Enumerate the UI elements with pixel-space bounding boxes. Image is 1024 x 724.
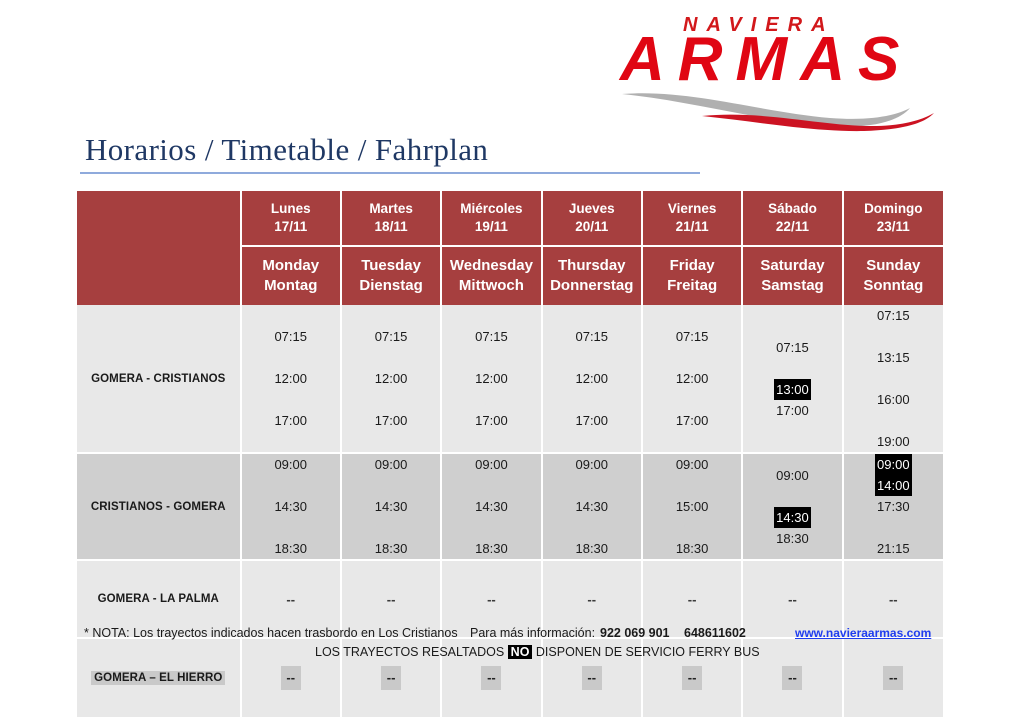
header-day-name-es: Miércoles — [442, 200, 540, 218]
schedule-cell: 07:1512:0017:00 — [241, 305, 341, 453]
header-day-date: 20/11 — [543, 218, 641, 236]
time-list: -- — [788, 589, 797, 610]
time-entry: 09:00 — [676, 454, 709, 475]
footer: * NOTA: Los trayectos indicados hacen tr… — [0, 626, 1024, 672]
time-entry: 18:30 — [274, 538, 307, 559]
schedule-cell: 09:0014:3018:30 — [241, 453, 341, 560]
header-day-en-de-1: MondayMontag — [241, 246, 341, 305]
time-entry: 21:15 — [875, 538, 912, 559]
time-list: 07:1513:0017:00 — [774, 337, 811, 421]
header-day-en-de-2: TuesdayDienstag — [341, 246, 441, 305]
time-list: 07:1512:0017:00 — [475, 326, 508, 431]
header-day-name-es: Lunes — [242, 200, 340, 218]
time-entry: 17:00 — [575, 410, 608, 431]
time-entry: 07:15 — [877, 305, 910, 326]
header-day-es-3: Miércoles19/11 — [441, 191, 541, 246]
time-entry: 19:00 — [877, 431, 910, 452]
time-entry: 17:00 — [475, 410, 508, 431]
time-list: 07:1512:0017:00 — [676, 326, 709, 431]
time-entry: 18:30 — [774, 528, 811, 549]
header-day-name-es: Domingo — [844, 200, 943, 218]
schedule-cell: 09:0015:0018:30 — [642, 453, 742, 560]
header-day-en-de-3: WednesdayMittwoch — [441, 246, 541, 305]
header-corner-cell — [77, 191, 241, 305]
time-entry: 07:15 — [676, 326, 709, 347]
footer-website-link[interactable]: www.navieraarmas.com — [795, 626, 931, 640]
schedule-cell: 09:0014:3018:30 — [542, 453, 642, 560]
time-entry: 09:00 — [774, 465, 811, 486]
time-entry: 18:30 — [475, 538, 508, 559]
time-entry: 14:30 — [475, 496, 508, 517]
header-row-spanish: Lunes17/11Martes18/11Miércoles19/11Jueve… — [77, 191, 943, 246]
brand-armas-text: ARMAS — [620, 28, 912, 92]
header-day-es-2: Martes18/11 — [341, 191, 441, 246]
footer-phone-1[interactable]: 922 069 901 — [600, 626, 670, 640]
time-entry: 16:00 — [877, 389, 910, 410]
time-entry-highlighted: 14:30 — [774, 507, 811, 528]
header-day-name-es: Viernes — [643, 200, 741, 218]
timetable-header: Lunes17/11Martes18/11Miércoles19/11Jueve… — [77, 191, 943, 305]
header-day-en-de-5: FridayFreitag — [642, 246, 742, 305]
time-entry: 18:30 — [375, 538, 408, 559]
footer-ferry-bus-after: DISPONEN DE SERVICIO FERRY BUS — [536, 645, 760, 659]
header-day-name-en: Thursday — [543, 256, 641, 276]
time-entry: 12:00 — [274, 368, 307, 389]
time-entry: 07:15 — [274, 326, 307, 347]
schedule-cell: 07:1512:0017:00 — [542, 305, 642, 453]
time-list: -- — [587, 589, 596, 610]
time-entry-highlighted: 09:00 — [875, 454, 912, 475]
no-service-dash: -- — [889, 592, 898, 607]
time-entry: 15:00 — [676, 496, 709, 517]
schedule-cell: 09:0014:3018:30 — [341, 453, 441, 560]
footer-phone-2[interactable]: 648611602 — [684, 626, 746, 640]
time-list: 09:0014:0017:3021:15 — [875, 454, 912, 559]
time-list: -- — [487, 589, 496, 610]
header-day-name-en: Sunday — [844, 256, 943, 276]
schedule-cell: 07:1512:0017:00 — [441, 305, 541, 453]
header-day-name-en: Friday — [643, 256, 741, 276]
time-entry: 14:30 — [274, 496, 307, 517]
schedule-cell: 09:0014:3018:30 — [742, 453, 842, 560]
footer-info-label: Para más información: — [470, 626, 595, 640]
time-entry: 17:00 — [774, 400, 811, 421]
time-list: 09:0015:0018:30 — [676, 454, 709, 559]
brand-swoosh-icon — [620, 88, 950, 134]
time-entry: 07:15 — [774, 337, 811, 358]
header-day-name-de: Donnerstag — [543, 276, 641, 296]
time-list: -- — [889, 589, 898, 610]
time-entry: 17:00 — [375, 410, 408, 431]
header-day-en-de-7: SundaySonntag — [843, 246, 943, 305]
header-day-name-en: Monday — [242, 256, 340, 276]
route-label: CRISTIANOS - GOMERA — [91, 501, 226, 513]
time-entry-highlighted: 13:00 — [774, 379, 811, 400]
time-list: 07:1512:0017:00 — [274, 326, 307, 431]
brand-logo: NAVIERA ARMAS — [620, 14, 960, 130]
header-day-name-es: Martes — [342, 200, 440, 218]
header-day-date: 21/11 — [643, 218, 741, 236]
header-day-date: 22/11 — [743, 218, 841, 236]
time-entry: 09:00 — [274, 454, 307, 475]
time-entry: 18:30 — [575, 538, 608, 559]
time-entry: 07:15 — [475, 326, 508, 347]
time-entry: 07:15 — [575, 326, 608, 347]
header-day-en-de-6: SaturdaySamstag — [742, 246, 842, 305]
time-entry: 12:00 — [575, 368, 608, 389]
schedule-cell: 07:1512:0017:00 — [341, 305, 441, 453]
schedule-cell: 09:0014:3018:30 — [441, 453, 541, 560]
time-entry: 14:30 — [375, 496, 408, 517]
no-service-dash: -- — [587, 592, 596, 607]
time-entry: 13:15 — [877, 347, 910, 368]
time-entry: 09:00 — [475, 454, 508, 475]
time-entry: 14:30 — [575, 496, 608, 517]
time-entry: 12:00 — [375, 368, 408, 389]
table-row: CRISTIANOS - GOMERA09:0014:3018:3009:001… — [77, 453, 943, 560]
header-day-name-de: Montag — [242, 276, 340, 296]
no-service-dash: -- — [286, 592, 295, 607]
route-label-cell: GOMERA - CRISTIANOS — [77, 305, 241, 453]
route-label: GOMERA - LA PALMA — [98, 593, 219, 605]
no-service-dash: -- — [788, 592, 797, 607]
header-day-name-de: Sonntag — [844, 276, 943, 296]
time-list: 09:0014:3018:30 — [774, 465, 811, 549]
header-day-name-en: Wednesday — [442, 256, 540, 276]
time-entry-highlighted: 14:00 — [875, 475, 912, 496]
time-list: 07:1512:0017:00 — [575, 326, 608, 431]
header-day-name-es: Jueves — [543, 200, 641, 218]
time-list: 09:0014:3018:30 — [575, 454, 608, 559]
header-day-name-en: Saturday — [743, 256, 841, 276]
header-day-name-en: Tuesday — [342, 256, 440, 276]
header-day-date: 18/11 — [342, 218, 440, 236]
table-row: GOMERA - CRISTIANOS07:1512:0017:0007:151… — [77, 305, 943, 453]
footer-note: * NOTA: Los trayectos indicados hacen tr… — [84, 626, 458, 640]
schedule-cell: 07:1512:0017:00 — [642, 305, 742, 453]
route-label: GOMERA – EL HIERRO — [91, 671, 225, 685]
no-service-dash: -- — [688, 592, 697, 607]
header-day-es-6: Sábado22/11 — [742, 191, 842, 246]
time-list: 09:0014:3018:30 — [475, 454, 508, 559]
header-day-name-de: Samstag — [743, 276, 841, 296]
schedule-cell: 09:0014:0017:3021:15 — [843, 453, 943, 560]
time-entry: 17:00 — [676, 410, 709, 431]
time-entry: 09:00 — [375, 454, 408, 475]
header-day-en-de-4: ThursdayDonnerstag — [542, 246, 642, 305]
time-entry: 07:15 — [375, 326, 408, 347]
no-service-dash: -- — [487, 592, 496, 607]
route-label-cell: CRISTIANOS - GOMERA — [77, 453, 241, 560]
schedule-cell: 07:1513:1516:0019:00 — [843, 305, 943, 453]
header-day-es-4: Jueves20/11 — [542, 191, 642, 246]
footer-ferry-bus-before: LOS TRAYECTOS RESALTADOS — [315, 645, 504, 659]
time-entry: 17:00 — [274, 410, 307, 431]
time-list: 07:1513:1516:0019:00 — [877, 305, 910, 452]
schedule-cell: 07:1513:0017:00 — [742, 305, 842, 453]
header-day-name-de: Dienstag — [342, 276, 440, 296]
time-entry: 12:00 — [676, 368, 709, 389]
time-entry: 12:00 — [475, 368, 508, 389]
time-list: 09:0014:3018:30 — [375, 454, 408, 559]
footer-ferry-bus-note: LOS TRAYECTOS RESALTADOS NO DISPONEN DE … — [315, 645, 760, 659]
header-day-es-1: Lunes17/11 — [241, 191, 341, 246]
header-day-es-7: Domingo23/11 — [843, 191, 943, 246]
header-day-name-es: Sábado — [743, 200, 841, 218]
no-service-dash: -- — [387, 592, 396, 607]
time-list: -- — [286, 589, 295, 610]
time-list: 09:0014:3018:30 — [274, 454, 307, 559]
footer-no-badge: NO — [508, 645, 533, 659]
time-list: 07:1512:0017:00 — [375, 326, 408, 431]
header-day-date: 19/11 — [442, 218, 540, 236]
header-day-date: 17/11 — [242, 218, 340, 236]
header-day-es-5: Viernes21/11 — [642, 191, 742, 246]
header-day-name-de: Freitag — [643, 276, 741, 296]
header-day-date: 23/11 — [844, 218, 943, 236]
time-entry: 17:30 — [875, 496, 912, 517]
time-list: -- — [387, 589, 396, 610]
time-list: -- — [688, 589, 697, 610]
route-label: GOMERA - CRISTIANOS — [91, 373, 225, 385]
page-title: Horarios / Timetable / Fahrplan — [85, 132, 488, 168]
time-entry: 18:30 — [676, 538, 709, 559]
time-entry: 09:00 — [575, 454, 608, 475]
title-underline-rule — [80, 172, 700, 174]
header-day-name-de: Mittwoch — [442, 276, 540, 296]
